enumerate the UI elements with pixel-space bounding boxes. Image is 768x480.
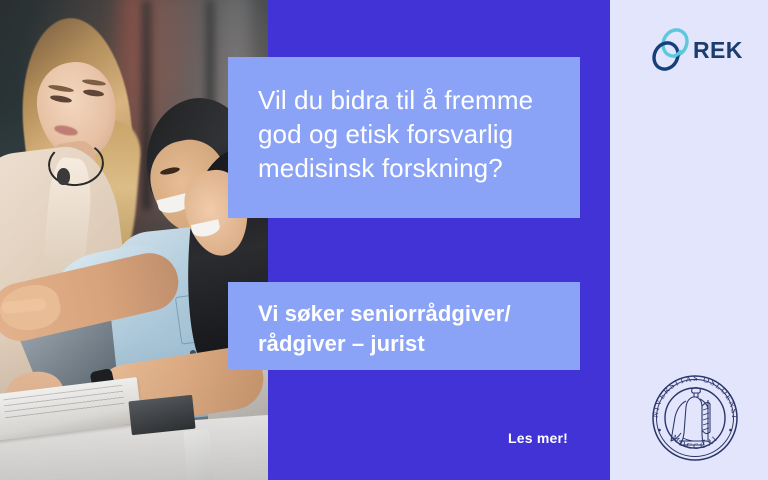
- interlocking-rings-icon: [650, 28, 692, 72]
- woman-blonde-pendant: [57, 168, 70, 185]
- headline-panel: Vil du bidra til å fremme god og etisk f…: [228, 57, 580, 218]
- role-text: Vi søker seniorrådgiver/ rådgiver – juri…: [258, 299, 580, 359]
- rek-wordmark: REK: [693, 39, 743, 62]
- book: [128, 395, 195, 436]
- headline-text: Vil du bidra til å fremme god og etisk f…: [258, 83, 580, 185]
- seal-ring-text-bottom: MDCCCXI: [670, 433, 720, 451]
- rek-logo[interactable]: REK: [650, 27, 738, 73]
- read-more-link[interactable]: Les mer!: [508, 430, 568, 446]
- role-panel: Vi søker seniorrådgiver/ rådgiver – juri…: [228, 282, 580, 370]
- recruitment-banner: Vil du bidra til å fremme god og etisk f…: [0, 0, 768, 480]
- uio-seal: UNIVERSITAS OSLOENSIS MDCCCXI: [645, 368, 745, 468]
